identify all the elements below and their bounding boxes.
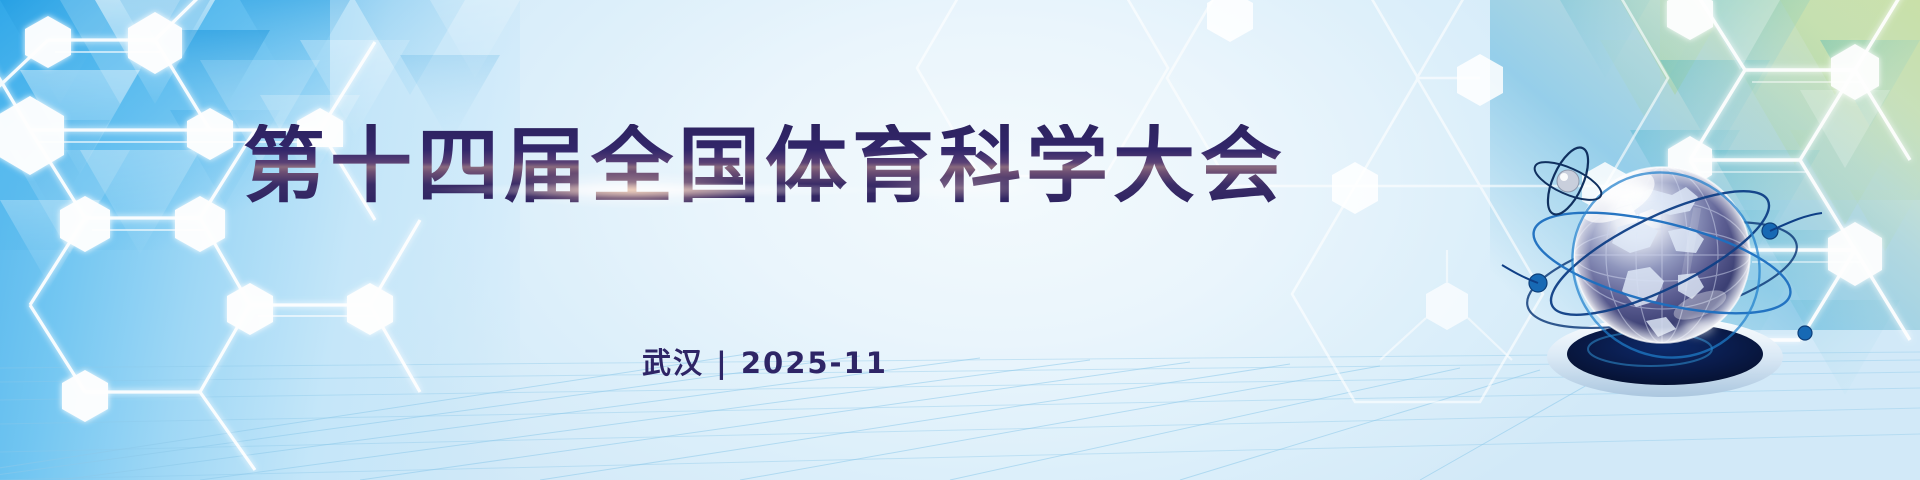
conference-banner: 第十四届全国体育科学大会 武汉 | 2025-11 <box>0 0 1920 480</box>
page-title: 第十四届全国体育科学大会 <box>243 124 1287 210</box>
event-location-date: 武汉 | 2025-11 <box>642 340 888 382</box>
subtitle-block: 武汉 | 2025-11 <box>0 340 1530 382</box>
title-block: 第十四届全国体育科学大会 <box>0 124 1530 210</box>
globe-emblem <box>1500 135 1830 435</box>
